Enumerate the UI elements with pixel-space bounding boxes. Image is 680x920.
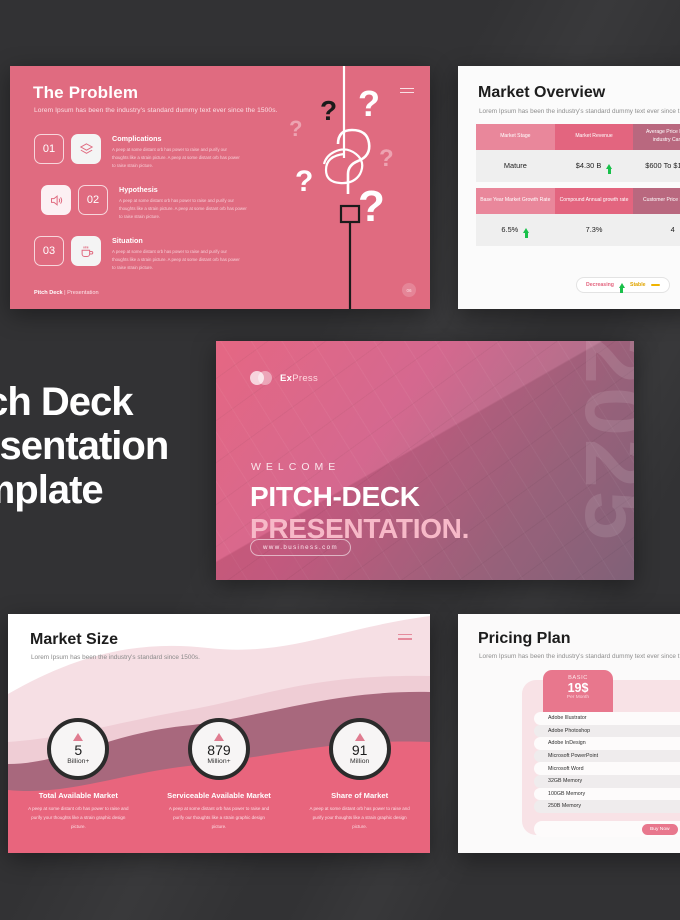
overlay-line-1: Pitch Deck [0, 380, 138, 424]
logo-text-bold: Ex [280, 373, 292, 384]
dash-icon [651, 284, 660, 286]
stat-circle: 5 Billion+ [47, 718, 109, 780]
page-title: Market Size [30, 631, 118, 649]
svg-text:?: ? [295, 165, 313, 198]
item-body: A peep at some distant orb has power to … [112, 146, 244, 170]
logo-text-light: Press [292, 373, 318, 384]
cell-value: $600 To $10,000 [645, 161, 680, 172]
triangle-up-icon [355, 733, 365, 741]
list-item[interactable]: 01 Complications A peep at some distant … [34, 134, 249, 171]
triangle-up-icon [73, 733, 83, 741]
stat-body: A peep at some distant orb has power to … [295, 805, 425, 831]
legend-label-stable: Stable [630, 282, 646, 288]
footer-label: Presentation [67, 290, 98, 296]
slide-pricing-plan[interactable]: Pricing Plan Lorem Ipsum has been the in… [458, 614, 680, 853]
page-title: Pricing Plan [478, 630, 570, 648]
feature-label: Microsoft PowerPoint [534, 753, 656, 759]
page-title: The Problem [33, 83, 138, 103]
svg-text:?: ? [320, 95, 337, 126]
slide-market-size[interactable]: Market Size Lorem Ipsum has been the ind… [8, 614, 430, 853]
svg-text:?: ? [358, 83, 380, 124]
stat-heading: Total Available Market [13, 791, 143, 800]
legend-label-decreasing: Decreasing [586, 282, 614, 288]
chart-legend: Decreasing Stable [576, 277, 670, 293]
feature-label: 32GB Memory [534, 778, 656, 784]
hero-eyebrow: WELCOME [251, 461, 340, 473]
cell-value: 7.3% [586, 225, 603, 236]
table-cell: $4.30 B [555, 150, 634, 182]
list-item: 250B Memory ✕ [534, 800, 680, 813]
logo-circles-icon [250, 371, 272, 385]
cell-value: Mature [504, 161, 527, 172]
menu-icon[interactable] [400, 88, 414, 96]
item-heading: Hypothesis [119, 185, 251, 194]
triangle-up-icon [214, 733, 224, 741]
feature-label: Adobe Illustrator [534, 715, 656, 721]
slide-the-problem[interactable]: ? ? ? ? ? ? The Problem Lorem Ipsum has … [10, 66, 430, 309]
slide-footer: Pitch Deck | Presentation [34, 290, 99, 296]
feature-label: Adobe Photoshop [534, 728, 656, 734]
slide-title-hero[interactable]: 2025 ExPress WELCOME PITCH-DECK PRESENTA… [216, 341, 634, 580]
svg-text:?: ? [358, 182, 385, 231]
item-number: 01 [34, 134, 64, 164]
layers-icon [71, 134, 101, 164]
page-subtitle: Lorem Ipsum has been the industry's stan… [34, 107, 278, 114]
table-cell: Mature [476, 150, 555, 182]
table-header-row: Base Year Market Growth Rate Compound An… [476, 188, 680, 214]
page-title: Market Overview [478, 84, 605, 102]
item-number: 03 [34, 236, 64, 266]
footer-brand: Pitch Deck [34, 290, 63, 296]
feature-label: Adobe InDesign [534, 740, 656, 746]
plan-period: Per Month [543, 695, 613, 700]
item-heading: Complications [112, 134, 244, 143]
list-item: Adobe Photoshop ✓ [534, 725, 680, 738]
overlay-line-2: Presentation [0, 424, 138, 468]
column-header: Base Year Market Growth Rate [476, 188, 555, 214]
cell-value: $4.30 B [576, 161, 601, 172]
list-item: Microsoft PowerPoint ✕ [534, 750, 680, 763]
table-header-row: Market Stage Market Revenue Average Pric… [476, 124, 680, 150]
page-number-badge: 06 [402, 283, 416, 297]
stat-value: 91 [352, 743, 368, 757]
column-header: Market Revenue [555, 124, 634, 150]
stat-unit: Billion+ [67, 758, 89, 765]
column-header: Compound Annual growth rate [555, 188, 634, 214]
overlay-title-text: Pitch Deck Presentation Template [0, 380, 138, 512]
item-body: A peep at some distant orb has power to … [112, 248, 244, 272]
arrow-up-icon [606, 164, 612, 169]
svg-text:?: ? [379, 145, 394, 172]
table-cell: 4 [633, 214, 680, 246]
plan-header: BASIC 19$ Per Month [543, 670, 613, 712]
stat-value: 879 [207, 743, 230, 757]
stat-heading: Serviceable Available Market [154, 791, 284, 800]
list-item: Microsoft Word ✕ [534, 762, 680, 775]
stat-card[interactable]: 879 Million+ Serviceable Available Marke… [154, 718, 284, 831]
list-item: Adobe Illustrator ✓ [534, 712, 680, 725]
arrow-up-icon [619, 283, 625, 288]
speaker-icon [41, 185, 71, 215]
stat-body: A peep at some distant orb has power to … [154, 805, 284, 831]
svg-text:?: ? [289, 116, 302, 141]
page-subtitle: Lorem Ipsum has been the industry's stan… [479, 653, 680, 660]
page-subtitle: Lorem Ipsum has been the industry's stan… [31, 654, 200, 661]
list-item[interactable]: 03 Situation A peep at some distant orb … [34, 236, 249, 273]
item-number: 02 [78, 185, 108, 215]
feature-label: 250B Memory [534, 803, 656, 809]
list-item: Adobe InDesign ✓ [534, 737, 680, 750]
stat-circle: 91 Million [329, 718, 391, 780]
feature-list: Adobe Illustrator ✓ Adobe Photoshop ✓ Ad… [534, 712, 680, 813]
table-cell: 7.3% [555, 214, 634, 246]
item-body: A peep at some distant orb has power to … [119, 197, 251, 221]
question-marks-decoration: ? ? ? ? ? ? [240, 66, 430, 309]
feature-label: 100GB Memory [534, 791, 656, 797]
website-url-pill[interactable]: www.business.com [250, 539, 351, 556]
column-header: Market Stage [476, 124, 555, 150]
problem-list: 01 Complications A peep at some distant … [34, 134, 249, 287]
table-row: Mature $4.30 B $600 To $10,000 [476, 150, 680, 182]
logo-text: ExPress [280, 373, 318, 384]
list-item: 32GB Memory ✕ [534, 775, 680, 788]
stat-circle: 879 Million+ [188, 718, 250, 780]
page-subtitle: Lorem Ipsum has been the industry's stan… [479, 108, 680, 115]
list-item: 100GB Memory ✕ [534, 788, 680, 801]
stat-heading: Share of Market [295, 791, 425, 800]
buy-now-button[interactable]: Buy Now [642, 824, 678, 835]
stat-unit: Million+ [207, 758, 230, 765]
list-item[interactable]: 02 Hypothesis A peep at some distant orb… [34, 185, 249, 222]
table-cell: $600 To $10,000 [633, 150, 680, 182]
stat-unit: Million [350, 758, 369, 765]
pricing-footer: Buy Now [534, 821, 680, 837]
year-watermark: 2025 [578, 341, 634, 543]
feature-label: Microsoft Word [534, 766, 656, 772]
slide-market-overview[interactable]: Market Overview Lorem Ipsum has been the… [458, 66, 680, 309]
column-header: Customer Price Sensitivity [633, 188, 680, 214]
arrow-up-icon [523, 228, 529, 233]
stat-body: A peep at some distant orb has power to … [13, 805, 143, 831]
table-row: 6.5% 7.3% 4 [476, 214, 680, 246]
table-cell: 6.5% [476, 214, 555, 246]
brand-logo[interactable]: ExPress [250, 371, 318, 385]
overlay-line-3: Template [0, 468, 138, 512]
column-header: Average Price Per Unit-industry Cameras [633, 124, 680, 150]
coffee-cup-icon [71, 236, 101, 266]
market-size-stats: 5 Billion+ Total Available Market A peep… [8, 718, 430, 831]
stat-card[interactable]: 91 Million Share of Market A peep at som… [295, 718, 425, 831]
stat-card[interactable]: 5 Billion+ Total Available Market A peep… [13, 718, 143, 831]
market-overview-table: Market Stage Market Revenue Average Pric… [476, 124, 680, 246]
item-heading: Situation [112, 236, 244, 245]
menu-icon[interactable] [398, 634, 412, 643]
stat-value: 5 [74, 743, 82, 757]
hero-title-line-1: PITCH-DECK [250, 481, 420, 513]
cell-value: 4 [671, 225, 675, 236]
cell-value: 6.5% [501, 225, 518, 236]
plan-price: 19$ [543, 681, 613, 695]
